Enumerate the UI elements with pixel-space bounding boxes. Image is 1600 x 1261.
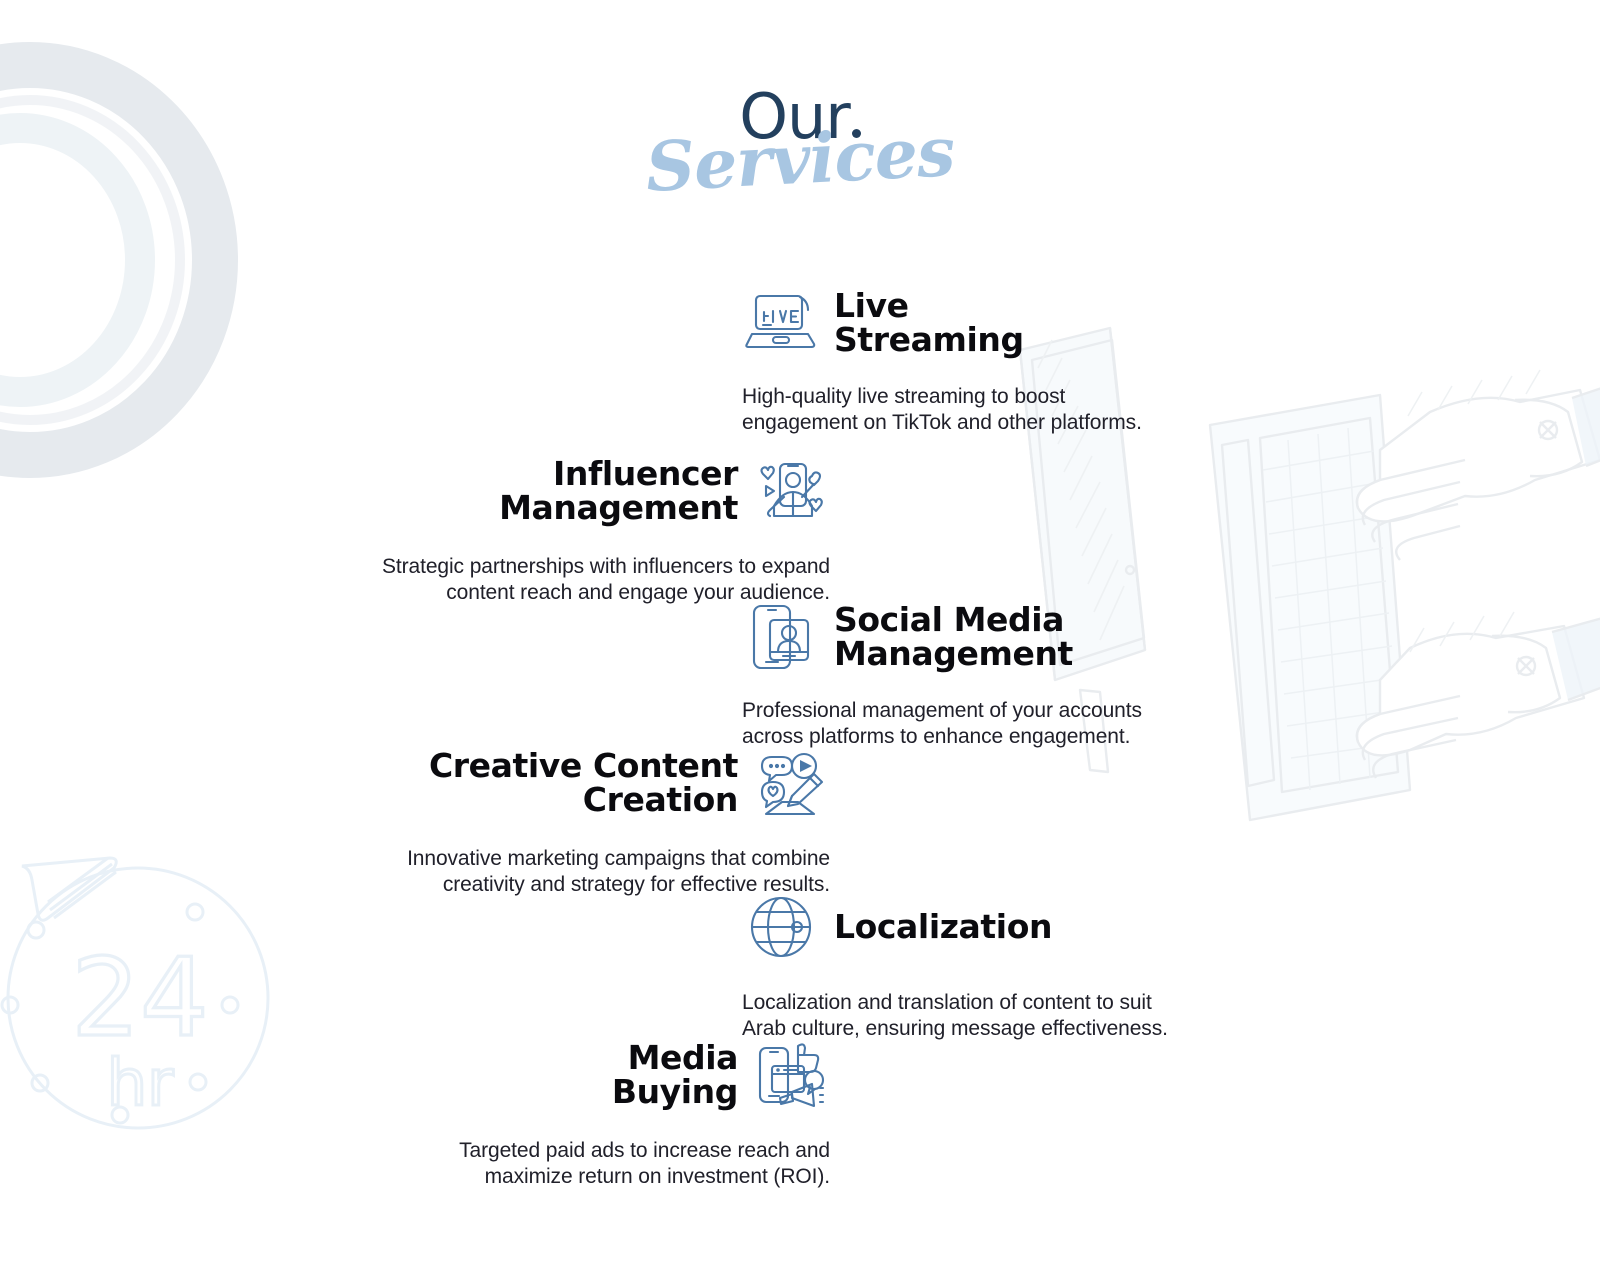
services-page: 24 hr — [0, 0, 1600, 1261]
service-title: Influencer Management — [499, 457, 738, 526]
service-title: Localization — [834, 910, 1052, 944]
service-social-media-management: Social Media Management Professional man… — [742, 598, 1212, 749]
service-creative-content-creation: Creative Content Creation Innovative mar… — [358, 744, 830, 897]
service-header: Influencer Management — [336, 452, 830, 530]
service-header: Creative Content Creation — [358, 744, 830, 822]
service-title: Social Media Management — [834, 603, 1073, 672]
service-influencer-management: Influencer Management Strategic partners… — [336, 452, 830, 605]
service-title: Media Buying — [612, 1041, 738, 1110]
service-description: Professional management of your accounts… — [742, 698, 1212, 749]
service-live-streaming: Live Streaming High-quality live streami… — [742, 284, 1212, 435]
clock-24hr-watermark: 24 hr — [0, 820, 290, 1150]
clock-24-number: 24 — [71, 936, 208, 1061]
live-laptop-icon — [742, 284, 820, 362]
megaphone-phone-icon — [752, 1036, 830, 1114]
page-title-block: Our Services — [0, 86, 1600, 148]
service-header: Social Media Management — [742, 598, 1212, 676]
service-header: Live Streaming — [742, 284, 1212, 362]
chat-pencil-icon — [752, 744, 830, 822]
service-header: Media Buying — [418, 1036, 830, 1114]
service-description: Localization and translation of content … — [742, 990, 1212, 1041]
service-description: Targeted paid ads to increase reach and … — [418, 1138, 830, 1189]
clock-hr-unit: hr — [107, 1047, 175, 1121]
service-title: Creative Content Creation — [429, 749, 738, 818]
phone-profile-icon — [742, 598, 820, 676]
service-title: Live Streaming — [834, 289, 1024, 358]
service-localization: Localization Localization and translatio… — [742, 888, 1212, 1041]
service-header: Localization — [742, 888, 1212, 966]
globe-icon — [742, 888, 820, 966]
service-media-buying: Media Buying Targeted paid ads to increa… — [418, 1036, 830, 1189]
service-description: High-quality live streaming to boost eng… — [742, 384, 1212, 435]
influencer-person-icon — [752, 452, 830, 530]
